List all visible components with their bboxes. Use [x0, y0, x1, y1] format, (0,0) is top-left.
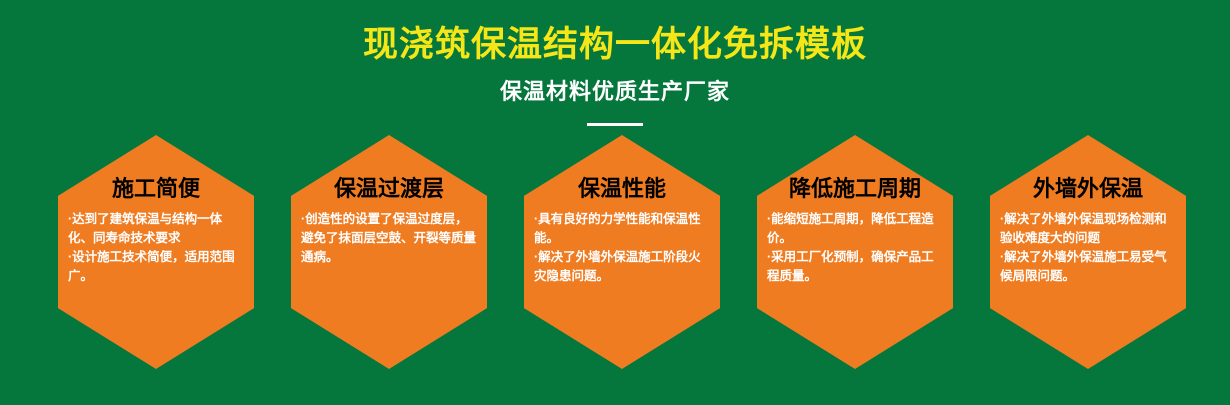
feature-card-1-content: 施工简便 ·达到了建筑保温与结构一体化、同寿命技术要求 ·设计施工技术简便，适用…	[66, 175, 246, 286]
page-subtitle: 保温材料优质生产厂家	[0, 78, 1230, 106]
feature-card-1-body: ·达到了建筑保温与结构一体化、同寿命技术要求 ·设计施工技术简便，适用范围广。	[66, 210, 246, 286]
banner-header: 现浇筑保温结构一体化免拆模板 保温材料优质生产厂家	[0, 0, 1230, 126]
feature-card-4-body: ·能缩短施工周期，降低工程造价。 ·采用工厂化预制，确保产品工程质量。	[765, 210, 945, 286]
promo-banner: 现浇筑保温结构一体化免拆模板 保温材料优质生产厂家 施工简便 ·达到了建筑保温与…	[0, 0, 1230, 405]
divider-line	[587, 123, 643, 126]
feature-card-5-title: 外墙外保温	[998, 175, 1178, 203]
feature-card-4[interactable]: 降低施工周期 ·能缩短施工周期，降低工程造价。 ·采用工厂化预制，确保产品工程质…	[757, 135, 953, 369]
page-title: 现浇筑保温结构一体化免拆模板	[0, 24, 1230, 66]
feature-card-2-content: 保温过渡层 ·创造性的设置了保温过度层，避免了抹面层空鼓、开裂等质量通病。	[299, 175, 479, 267]
feature-card-4-title: 降低施工周期	[765, 175, 945, 203]
feature-card-5-content: 外墙外保温 ·解决了外墙外保温现场检测和验收难度大的问题 ·解决了外墙外保温施工…	[998, 175, 1178, 286]
feature-card-2[interactable]: 保温过渡层 ·创造性的设置了保温过度层，避免了抹面层空鼓、开裂等质量通病。	[291, 135, 487, 369]
feature-card-5[interactable]: 外墙外保温 ·解决了外墙外保温现场检测和验收难度大的问题 ·解决了外墙外保温施工…	[990, 135, 1186, 369]
feature-card-4-content: 降低施工周期 ·能缩短施工周期，降低工程造价。 ·采用工厂化预制，确保产品工程质…	[765, 175, 945, 286]
feature-card-1[interactable]: 施工简便 ·达到了建筑保温与结构一体化、同寿命技术要求 ·设计施工技术简便，适用…	[58, 135, 254, 369]
feature-card-2-body: ·创造性的设置了保温过度层，避免了抹面层空鼓、开裂等质量通病。	[299, 210, 479, 267]
feature-card-3-title: 保温性能	[532, 175, 712, 203]
feature-card-5-body: ·解决了外墙外保温现场检测和验收难度大的问题 ·解决了外墙外保温施工易受气候局限…	[998, 210, 1178, 286]
feature-card-3-content: 保温性能 ·具有良好的力学性能和保温性能。 ·解决了外墙外保温施工阶段火灾隐患问…	[532, 175, 712, 286]
feature-card-3[interactable]: 保温性能 ·具有良好的力学性能和保温性能。 ·解决了外墙外保温施工阶段火灾隐患问…	[524, 135, 720, 369]
feature-card-2-title: 保温过渡层	[299, 175, 479, 203]
feature-card-3-body: ·具有良好的力学性能和保温性能。 ·解决了外墙外保温施工阶段火灾隐患问题。	[532, 210, 712, 286]
feature-hexagon-row: 施工简便 ·达到了建筑保温与结构一体化、同寿命技术要求 ·设计施工技术简便，适用…	[58, 135, 1186, 369]
feature-card-1-title: 施工简便	[66, 175, 246, 203]
